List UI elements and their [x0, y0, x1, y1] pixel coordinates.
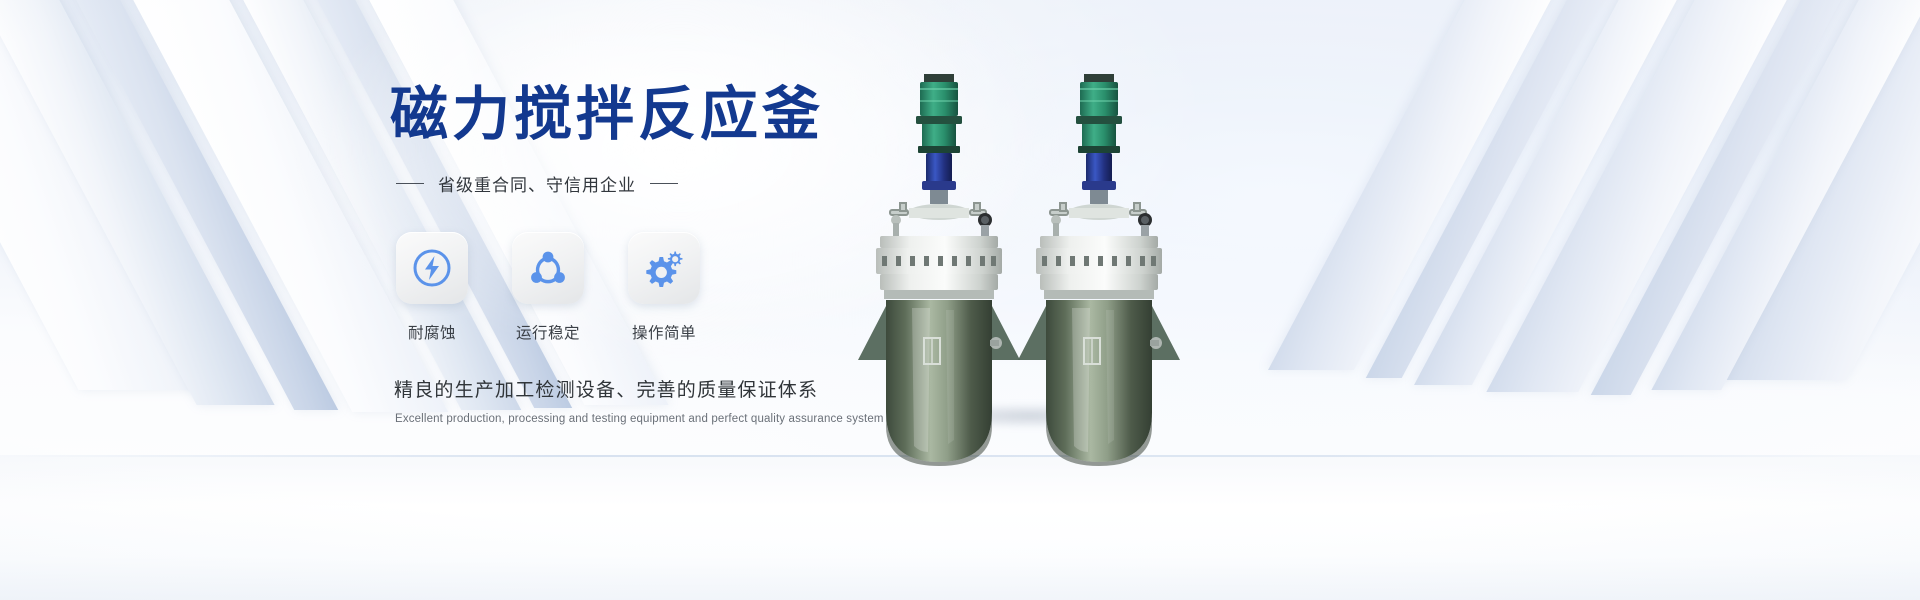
feature-item-1[interactable]: 耐腐蚀 — [396, 232, 468, 343]
tagline-english: Excellent production, processing and tes… — [395, 413, 910, 425]
feature-icon-box-1 — [396, 232, 468, 304]
feature-item-2[interactable]: 运行稳定 — [512, 232, 584, 343]
banner-text-block: 磁力搅拌反应釜 省级重合同、守信用企业 耐腐蚀 — [390, 82, 910, 425]
product-image — [840, 60, 1220, 480]
feature-icon-box-2 — [512, 232, 584, 304]
lightning-bolt-icon — [410, 246, 454, 290]
feature-label-2: 运行稳定 — [512, 321, 584, 343]
feature-label-3: 操作简单 — [628, 321, 700, 343]
feature-icon-box-3 — [628, 232, 700, 304]
feature-label-1: 耐腐蚀 — [396, 321, 468, 343]
subtitle-text: 省级重合同、守信用企业 — [438, 171, 636, 196]
reactor-vessel-2 — [1010, 60, 1190, 480]
share-nodes-icon — [526, 246, 570, 290]
feature-list: 耐腐蚀 运行稳定 — [396, 232, 910, 343]
product-banner: 磁力搅拌反应釜 省级重合同、守信用企业 耐腐蚀 — [0, 0, 1920, 600]
subtitle-rule-left — [396, 183, 424, 185]
gears-icon — [641, 245, 687, 291]
tagline-chinese: 精良的生产加工检测设备、完善的质量保证体系 — [394, 375, 910, 402]
subtitle-rule-right — [650, 183, 678, 185]
reactor-vessel-1 — [850, 60, 1030, 480]
banner-subtitle: 省级重合同、守信用企业 — [396, 171, 910, 196]
feature-item-3[interactable]: 操作简单 — [628, 232, 700, 343]
banner-title: 磁力搅拌反应釜 — [390, 82, 910, 147]
